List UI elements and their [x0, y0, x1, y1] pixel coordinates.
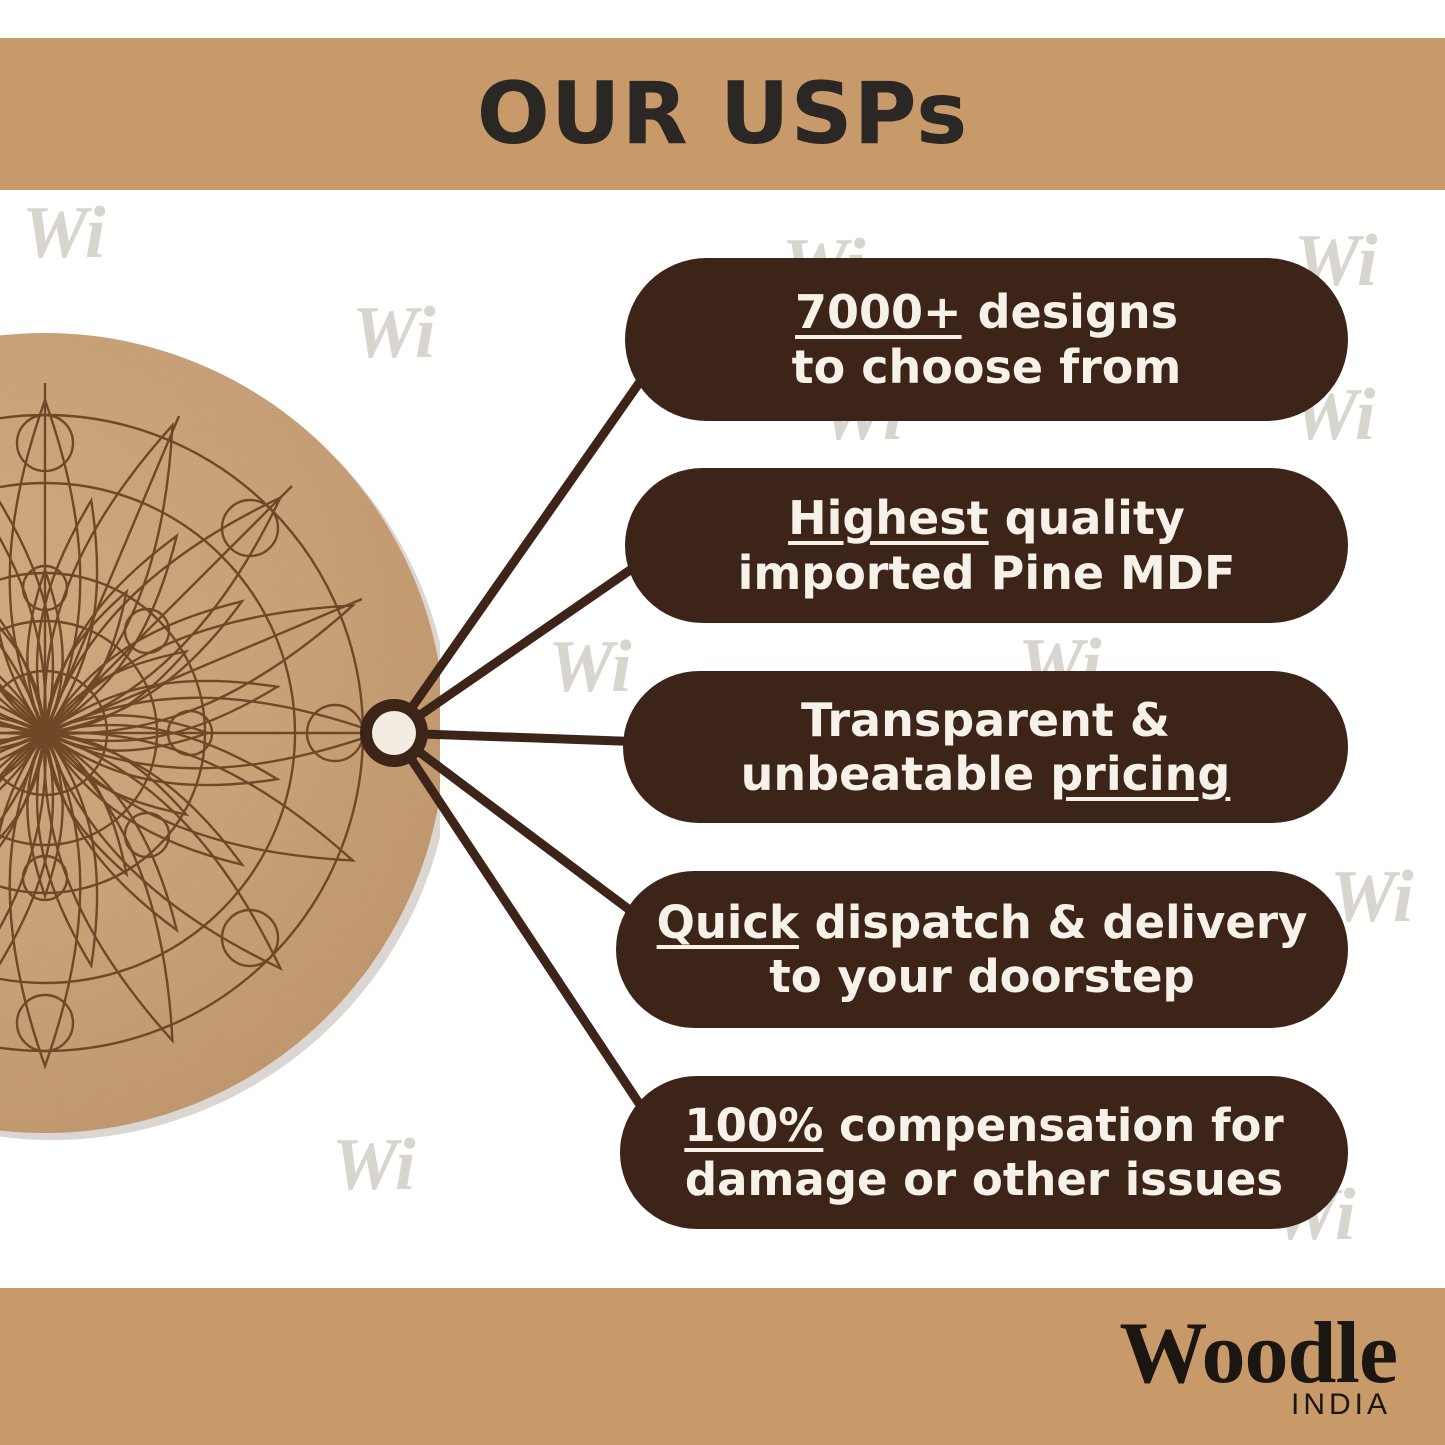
infographic-canvas: WiWiWiWiWiWiWiWiWiWiWi — [0, 0, 1445, 1445]
usp-text-line: to your doorstep — [769, 950, 1195, 1003]
usp-text-line: Highest quality — [788, 491, 1185, 545]
usp-highlight: Quick — [657, 896, 799, 949]
usp-highlight: pricing — [1050, 747, 1230, 801]
watermark-wi: Wi — [548, 630, 632, 704]
usp-text-line: Transparent & — [801, 693, 1170, 747]
usp-text-line: Quick dispatch & delivery — [657, 896, 1308, 949]
usp-text-line: to choose from — [792, 340, 1182, 394]
usp-highlight: 100% — [684, 1099, 823, 1152]
usp-card-pricing[interactable]: Transparent &unbeatable pricing — [623, 671, 1348, 823]
page-title: OUR USPs — [0, 38, 1445, 190]
watermark-wi: Wi — [22, 196, 106, 270]
usp-card-quality[interactable]: Highest qualityimported Pine MDF — [625, 468, 1348, 623]
usp-card-designs[interactable]: 7000+ designsto choose from — [625, 258, 1348, 421]
usp-card-compensation[interactable]: 100% compensation fordamage or other iss… — [620, 1076, 1348, 1229]
usp-text-line: 100% compensation for — [684, 1099, 1283, 1152]
usp-text-line: unbeatable pricing — [741, 747, 1231, 801]
usp-text-line: 7000+ designs — [795, 285, 1178, 339]
usp-highlight: Highest — [788, 491, 989, 545]
product-image-mandala-mdf-disc — [0, 300, 440, 1180]
usp-highlight: 7000+ — [795, 285, 962, 339]
usp-text-line: damage or other issues — [685, 1153, 1283, 1206]
usp-text-line: imported Pine MDF — [738, 546, 1236, 600]
logo-wordmark: Woodle — [1119, 1310, 1397, 1398]
usp-card-dispatch[interactable]: Quick dispatch & deliveryto your doorste… — [616, 871, 1348, 1028]
brand-logo: Woodle INDIA — [1119, 1310, 1397, 1420]
